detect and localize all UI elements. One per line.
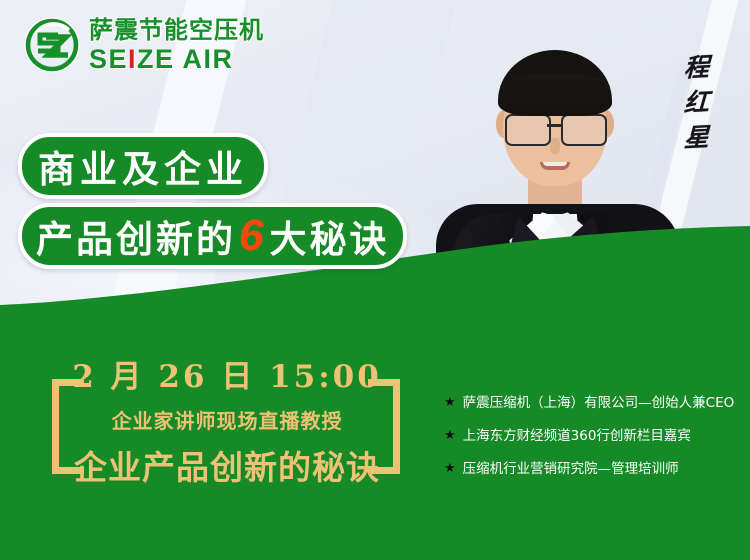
star-icon: ★: [444, 394, 456, 412]
credential-text: 上海东方财经频道360行创新栏目嘉宾: [463, 427, 691, 445]
brand-name-en-accent: I: [128, 44, 137, 74]
list-item: ★ 萨震压缩机（上海）有限公司—创始人兼CEO: [444, 394, 744, 412]
list-item: ★ 压缩机行业营销研究院—管理培训师: [444, 460, 744, 478]
headline-line-1-text: 商业及企业: [38, 139, 248, 193]
headline-number-six: 6: [236, 211, 269, 261]
headline-line-2-after: 大秘诀: [269, 209, 389, 263]
brand-wordmark: 萨震节能空压机 SEIZE AIR: [89, 18, 264, 73]
credentials-list: ★ 萨震压缩机（上海）有限公司—创始人兼CEO ★ 上海东方财经频道360行创新…: [444, 394, 744, 494]
speaker-name-char-1: 红: [684, 89, 710, 115]
headline-line-2: 产品创新的6大秘诀: [18, 203, 407, 269]
event-details: 2 月 26 日 15:00 企业家讲师现场直播教授 企业产品创新的秘诀: [62, 360, 392, 489]
brand-name-en-a: SE: [89, 44, 128, 74]
speaker-name-vertical: 程 红 星: [676, 55, 718, 150]
speaker-name-char-2: 星: [684, 124, 710, 150]
star-icon: ★: [444, 460, 456, 478]
event-datetime: 2 月 26 日 15:00: [62, 360, 392, 396]
event-topic: 企业产品创新的秘诀: [62, 441, 392, 489]
speaker-name-char-0: 程: [684, 54, 710, 80]
brand-name-cn: 萨震节能空压机: [89, 18, 264, 42]
event-subtitle: 企业家讲师现场直播教授: [62, 405, 392, 434]
credential-text: 萨震压缩机（上海）有限公司—创始人兼CEO: [463, 394, 735, 412]
sz-circle-logo-icon: [24, 17, 80, 73]
headline-line-2-before: 产品创新的: [36, 209, 236, 263]
brand-logo: 萨震节能空压机 SEIZE AIR: [24, 17, 264, 73]
headline-line-1: 商业及企业: [18, 133, 268, 199]
brand-name-en: SEIZE AIR: [89, 46, 264, 73]
list-item: ★ 上海东方财经频道360行创新栏目嘉宾: [444, 427, 744, 445]
promo-poster: 萨震节能空压机 SEIZE AIR 程 红 星 商业及企业 产品创新的6大秘诀 …: [0, 0, 750, 560]
brand-name-en-b: ZE AIR: [137, 44, 234, 74]
credential-text: 压缩机行业营销研究院—管理培训师: [463, 460, 679, 478]
star-icon: ★: [444, 427, 456, 445]
